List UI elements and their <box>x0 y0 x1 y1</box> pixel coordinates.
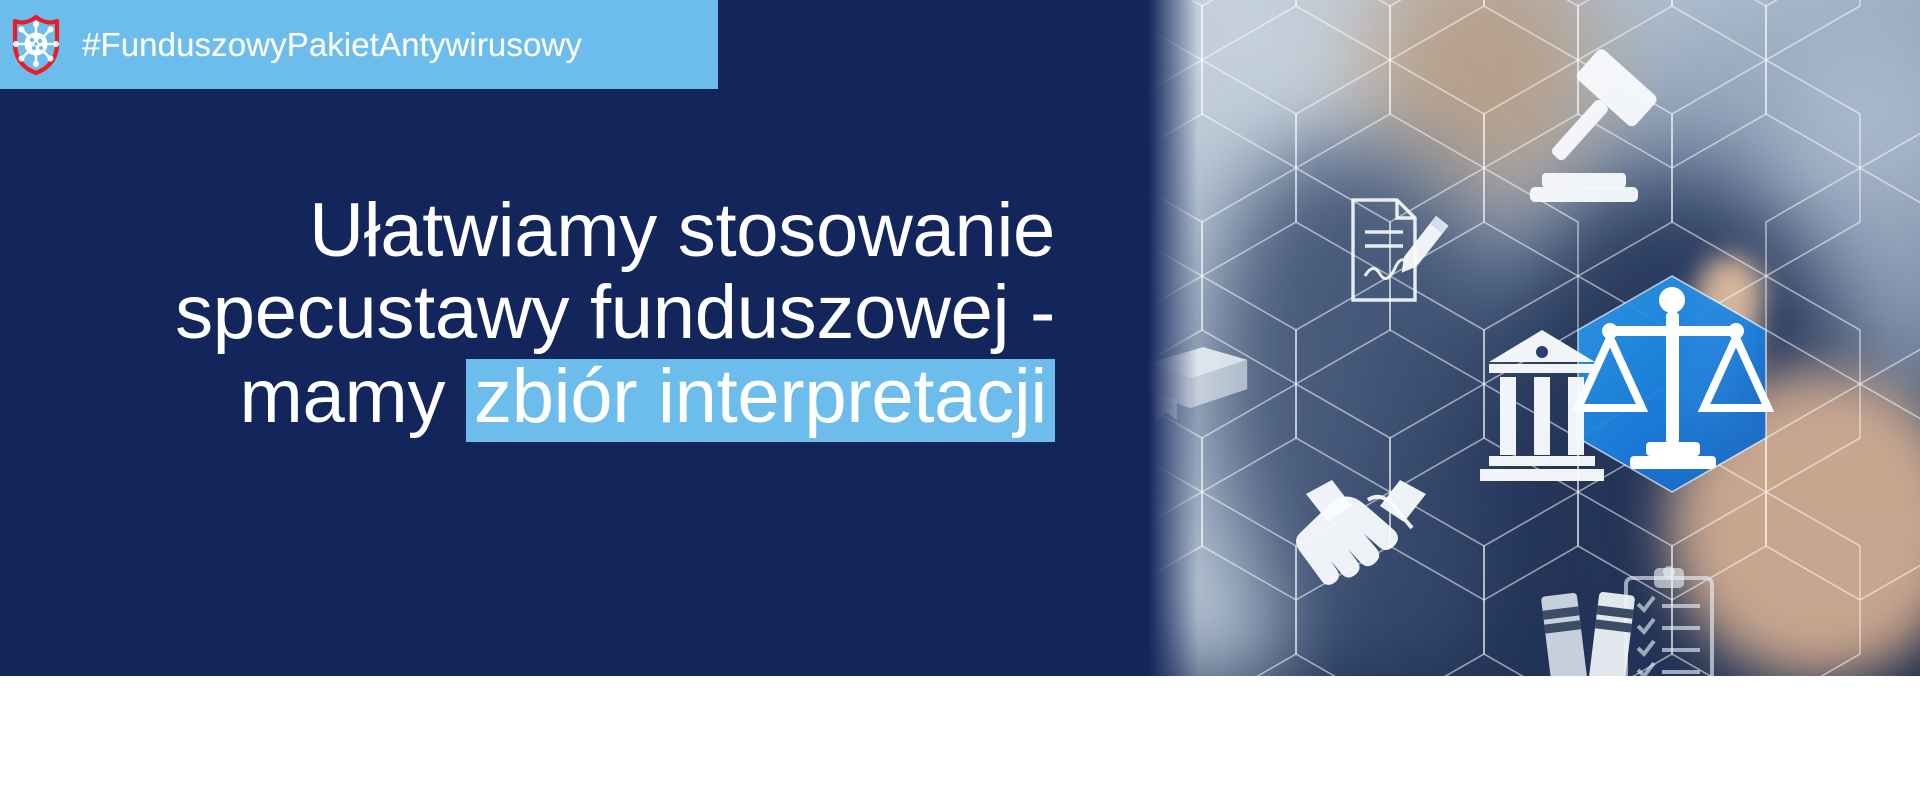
headline-line-3-plain: mamy <box>240 354 467 439</box>
headline: Ułatwiamy stosowanie specustawy funduszo… <box>0 190 1100 442</box>
virus-shield-icon <box>0 0 72 89</box>
handshake-icon <box>1296 480 1426 585</box>
hashtag-label: #FunduszowyPakietAntywirusowy <box>82 26 582 64</box>
hashtag-bar: #FunduszowyPakietAntywirusowy <box>0 0 718 89</box>
headline-line-2: specustawy funduszowej - <box>0 272 1055 354</box>
headline-highlight: zbiór interpretacji <box>466 359 1055 442</box>
gavel-icon <box>1526 47 1659 202</box>
footer-logo-bar: Fundusze Europejskie Rzeczpospolita Pols… <box>0 676 1920 810</box>
hero-photo <box>1148 0 1920 676</box>
headline-line-1: Ułatwiamy stosowanie <box>0 190 1055 272</box>
headline-line-3: mamy zbiór interpretacji <box>0 356 1055 442</box>
hero-banner: #FunduszowyPakietAntywirusowy Ułatwiamy … <box>0 0 1920 676</box>
hexagon-overlay <box>1148 0 1920 676</box>
banner-page: #FunduszowyPakietAntywirusowy Ułatwiamy … <box>0 0 1920 810</box>
photo-left-fade <box>1148 0 1198 676</box>
binders-icon <box>1541 592 1635 676</box>
checklist-clipboard-icon <box>1626 566 1712 676</box>
